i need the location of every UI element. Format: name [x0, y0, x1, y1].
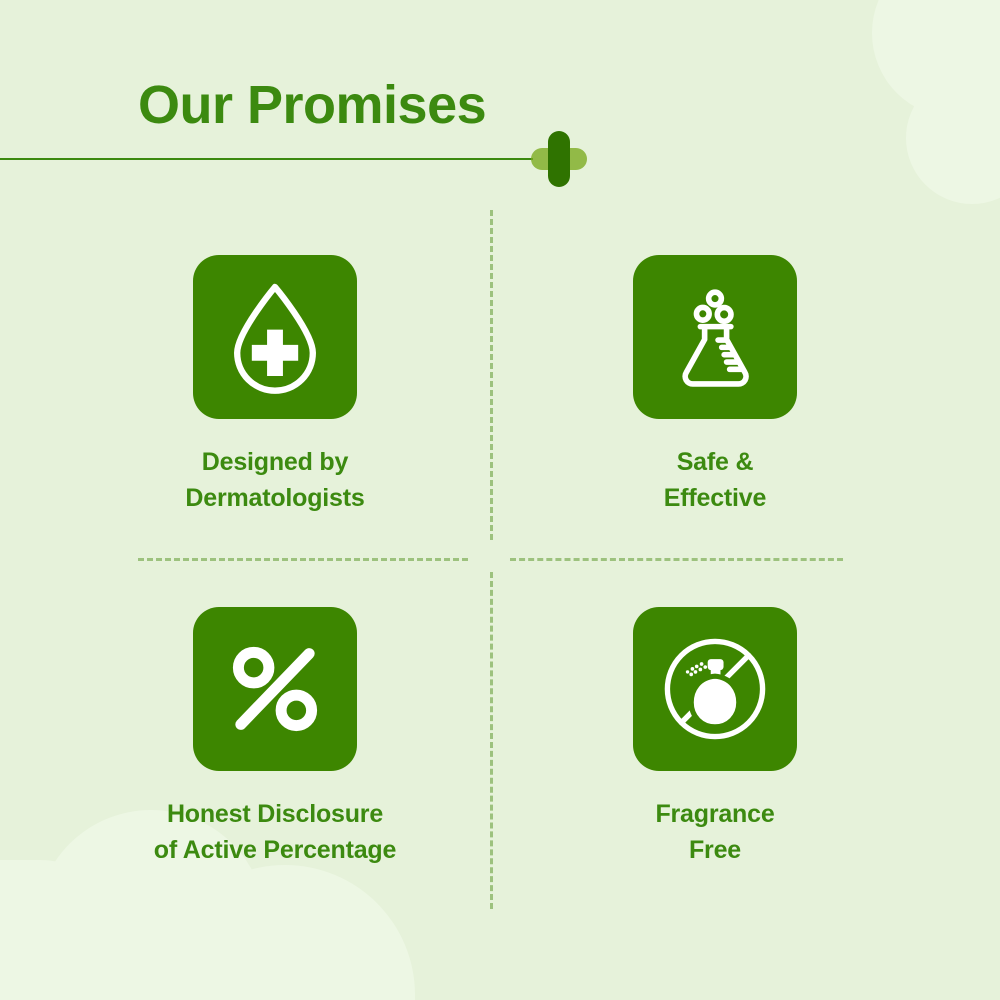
- promise-label: Honest Disclosure of Active Percentage: [60, 797, 490, 868]
- droplet-with-medical-cross-icon: [193, 255, 357, 419]
- promise-label: Designed by Dermatologists: [60, 445, 490, 516]
- promise-card-fragrance-free: Fragrance Free: [500, 607, 930, 868]
- promise-card-honest-disclosure: Honest Disclosure of Active Percentage: [60, 607, 490, 868]
- header: Our Promises: [0, 78, 1000, 178]
- promises-infographic: Our Promises Designed by Dermatologists: [0, 0, 1000, 1000]
- promises-grid: Designed by Dermatologists Safe & Effect…: [0, 195, 1000, 935]
- erlenmeyer-flask-icon: [633, 255, 797, 419]
- no-perfume-bottle-icon: [633, 607, 797, 771]
- page-title: Our Promises: [138, 78, 486, 132]
- plus-vertical-bar: [548, 131, 570, 187]
- plus-cross-decoration-icon: [531, 131, 587, 187]
- promise-card-designed-by-dermatologists: Designed by Dermatologists: [60, 255, 490, 516]
- promise-label: Safe & Effective: [500, 445, 930, 516]
- title-underline-rule: [0, 158, 533, 160]
- percent-sign-icon: [193, 607, 357, 771]
- promise-card-safe-and-effective: Safe & Effective: [500, 255, 930, 516]
- promise-label: Fragrance Free: [500, 797, 930, 868]
